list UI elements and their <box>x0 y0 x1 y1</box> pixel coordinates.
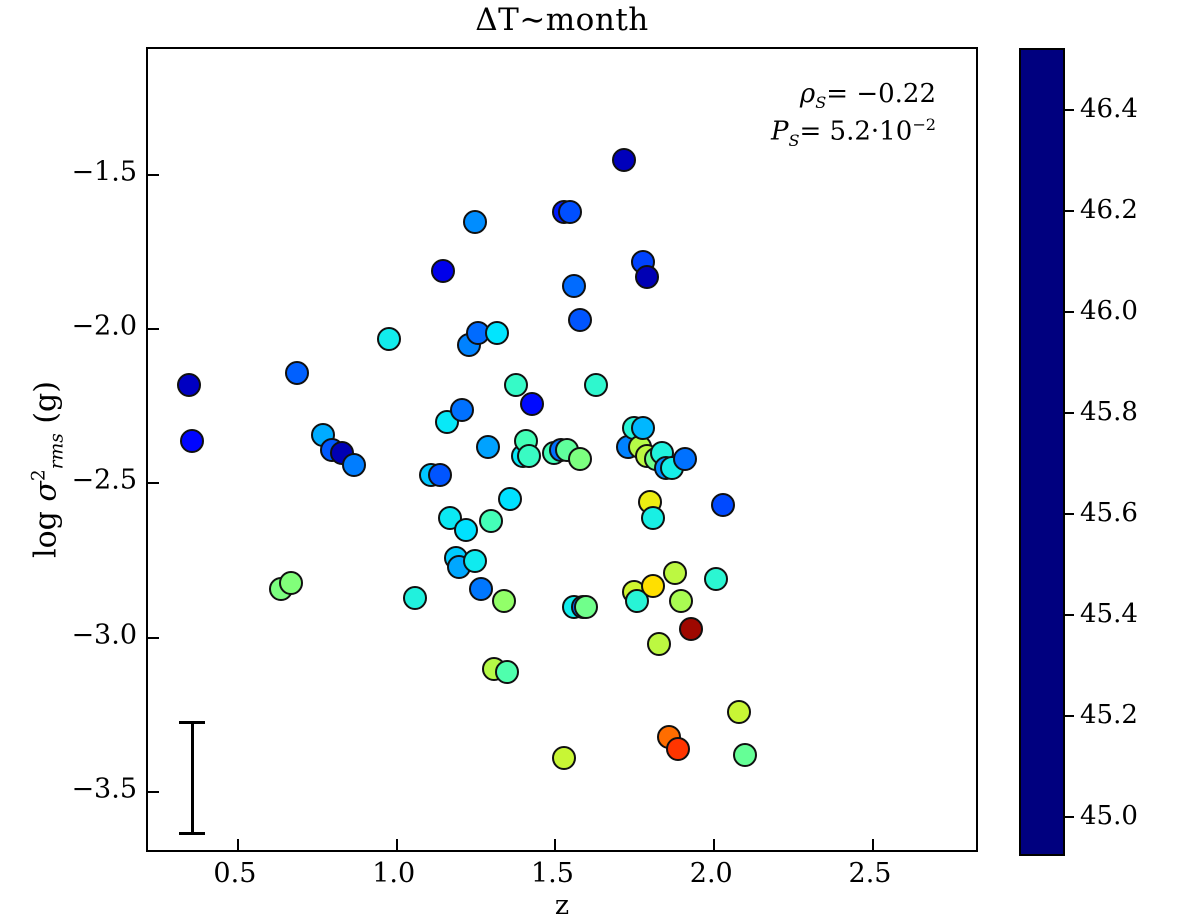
data-point <box>476 435 500 459</box>
colorbar-tick-mark <box>1065 412 1074 414</box>
data-point <box>704 567 728 591</box>
colorbar-tick-mark <box>1065 614 1074 616</box>
data-point <box>469 577 493 601</box>
data-point <box>485 321 509 345</box>
data-point <box>552 746 576 770</box>
p-value: = 5.2·10 <box>800 117 913 147</box>
x-tick-mark <box>396 839 398 850</box>
y-tick-mark <box>148 482 159 484</box>
data-point <box>631 416 655 440</box>
data-point <box>711 493 735 517</box>
data-point <box>635 265 659 289</box>
data-point <box>454 518 478 542</box>
data-point <box>574 595 598 619</box>
data-point <box>520 392 544 416</box>
data-point <box>584 373 608 397</box>
p-exponent: −2 <box>912 115 936 134</box>
data-point <box>431 259 455 283</box>
colorbar-tick-label: 46.2 <box>1080 195 1138 225</box>
sigma-exponent: 2 <box>29 469 50 481</box>
data-point <box>479 509 503 533</box>
p-symbol: P <box>771 117 789 147</box>
error-bar-line <box>191 722 194 834</box>
y-tick-label: −2.5 <box>71 465 137 496</box>
colorbar-tick-label: 45.0 <box>1080 801 1138 831</box>
data-point <box>727 700 751 724</box>
colorbar-tick-label: 45.6 <box>1080 498 1138 528</box>
x-tick-label: 2.0 <box>690 858 733 889</box>
y-tick-mark <box>148 328 159 330</box>
sigma-subscript: rms <box>47 433 68 469</box>
statistics-annotation: ρS= −0.22 PS= 5.2·10−2 <box>771 77 936 152</box>
x-tick-label: 2.5 <box>849 858 892 889</box>
y-axis-title: log σ2rms (g) <box>29 160 68 780</box>
y-tick-mark <box>148 637 159 639</box>
colorbar-gradient <box>1021 50 1063 854</box>
data-point <box>673 447 697 471</box>
data-point <box>463 210 487 234</box>
colorbar-tick-label: 45.8 <box>1080 397 1138 427</box>
sigma-symbol: σ <box>29 481 64 501</box>
colorbar-tick-label: 45.2 <box>1080 700 1138 730</box>
axes-frame: ρS= −0.22 PS= 5.2·10−2 <box>146 47 978 852</box>
data-point <box>492 589 516 613</box>
y-tick-mark <box>148 791 159 793</box>
data-point <box>463 549 487 573</box>
colorbar-tick-label: 46.0 <box>1080 296 1138 326</box>
data-point <box>428 463 452 487</box>
data-point <box>669 589 693 613</box>
data-point <box>177 373 201 397</box>
y-tick-mark <box>148 174 159 176</box>
plot-data-area[interactable] <box>148 49 976 850</box>
x-tick-mark <box>872 839 874 850</box>
data-point <box>285 361 309 385</box>
colorbar-tick-mark <box>1065 816 1074 818</box>
y-tick-label: −3.0 <box>71 619 137 650</box>
y-title-prefix: log <box>29 502 64 558</box>
x-axis-title: z <box>146 890 978 921</box>
x-tick-label: 1.5 <box>531 858 574 889</box>
data-point <box>663 561 687 585</box>
data-point <box>279 571 303 595</box>
data-point <box>562 274 586 298</box>
colorbar-tick-label: 46.4 <box>1080 94 1138 124</box>
y-tick-label: −2.0 <box>71 311 137 342</box>
spearman-rho-line: ρS= −0.22 <box>771 77 936 114</box>
data-point <box>498 487 522 511</box>
colorbar-tick-mark <box>1065 109 1074 111</box>
data-point <box>612 148 636 172</box>
data-point <box>517 444 541 468</box>
x-tick-mark <box>554 839 556 850</box>
data-point <box>568 447 592 471</box>
data-point <box>377 327 401 351</box>
plot-title: ΔT∼month <box>146 2 978 38</box>
scatter-figure: ΔT∼month ρS= −0.22 PS= 5.2·10−2 0.51.01.… <box>0 0 1200 920</box>
data-point <box>450 398 474 422</box>
data-point <box>180 429 204 453</box>
data-point <box>666 737 690 761</box>
colorbar[interactable] <box>1019 48 1065 856</box>
p-subscript: S <box>788 131 799 150</box>
error-bar-cap-bottom <box>179 832 205 835</box>
colorbar-tick-mark <box>1065 513 1074 515</box>
rho-subscript: S <box>815 93 826 112</box>
error-bar-cap-top <box>179 721 205 724</box>
x-tick-mark <box>237 839 239 850</box>
data-point <box>641 506 665 530</box>
y-title-suffix: (g) <box>29 381 64 433</box>
data-point <box>342 453 366 477</box>
data-point <box>641 574 665 598</box>
rho-symbol: ρ <box>800 79 815 109</box>
x-tick-label: 0.5 <box>213 858 256 889</box>
colorbar-tick-mark <box>1065 210 1074 212</box>
colorbar-tick-mark <box>1065 715 1074 717</box>
data-point <box>733 743 757 767</box>
rho-value: = −0.22 <box>826 79 936 109</box>
data-point <box>495 660 519 684</box>
data-point <box>679 617 703 641</box>
colorbar-tick-mark <box>1065 311 1074 313</box>
data-point <box>568 308 592 332</box>
data-point <box>558 200 582 224</box>
data-point <box>403 586 427 610</box>
data-point <box>647 632 671 656</box>
x-tick-mark <box>713 839 715 850</box>
y-tick-label: −1.5 <box>71 156 137 187</box>
y-tick-label: −3.5 <box>71 773 137 804</box>
x-tick-label: 1.0 <box>372 858 415 889</box>
spearman-p-line: PS= 5.2·10−2 <box>771 114 936 152</box>
colorbar-tick-label: 45.4 <box>1080 599 1138 629</box>
